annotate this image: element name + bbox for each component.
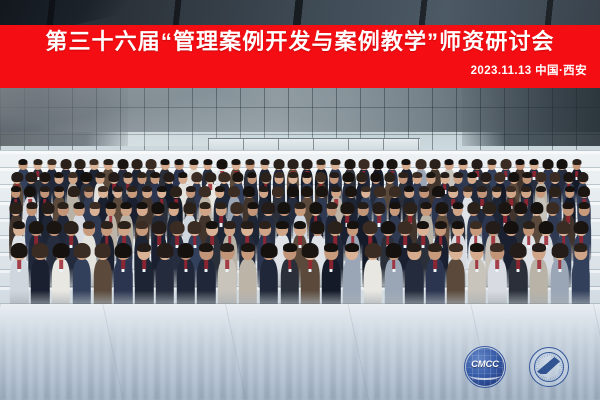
attendee-figure (488, 244, 508, 310)
attendee-lanyard (288, 260, 292, 269)
attendee-hair (341, 202, 354, 214)
attendee-hair (60, 159, 71, 169)
attendee-hair (205, 172, 216, 182)
attendee-figure (155, 244, 175, 310)
attendee-hair (230, 202, 243, 214)
attendee-hair (426, 172, 435, 178)
attendee-lanyard (184, 260, 188, 269)
attendee-hair (272, 186, 284, 197)
attendee-torso (73, 259, 91, 310)
attendee-hair (121, 202, 132, 209)
attendee-hair (417, 221, 429, 229)
attendee-hair (95, 172, 104, 178)
attendee-figure (446, 244, 466, 310)
attendee-hair (330, 172, 339, 178)
attendee-hair (486, 221, 501, 234)
attendee-hair (316, 186, 328, 197)
attendee-figure (508, 244, 528, 310)
attendee-hair (361, 186, 371, 192)
attendee-hair (363, 221, 378, 234)
attendee-hair (532, 243, 546, 252)
attendee-hair (429, 159, 440, 169)
attendee-lanyard (142, 260, 146, 269)
attendee-hair (356, 172, 367, 182)
attendee-hair (358, 159, 369, 169)
attendee-hair (273, 159, 284, 169)
crowd-row (0, 244, 600, 310)
attendee-hair (578, 186, 590, 197)
attendee-badge (517, 269, 520, 272)
attendee-hair (200, 243, 214, 252)
attendee-hair (146, 159, 157, 169)
attendee-hair (283, 243, 297, 252)
cmcc-logo: CMCC (464, 346, 506, 388)
attendee-lanyard (558, 260, 562, 269)
attendee-hair (89, 202, 100, 209)
attendee-hair (54, 172, 63, 178)
attendee-hair (232, 172, 243, 182)
attendee-hair (24, 186, 36, 197)
attendee-torso (343, 259, 361, 310)
attendee-hair (64, 221, 79, 234)
attendee-hair (364, 243, 381, 258)
attendee-hair (302, 172, 311, 178)
attendee-hair (151, 202, 164, 214)
attendee-hair (412, 172, 421, 178)
attendee-hair (380, 221, 395, 234)
attendee-lanyard (329, 260, 333, 269)
attendee-hair (434, 221, 446, 229)
attendee-hair (115, 243, 132, 258)
attendee-hair (454, 172, 463, 178)
attendee-badge (205, 269, 208, 272)
attendee-hair (452, 202, 463, 209)
attendee-hair (510, 243, 527, 258)
ceiling-canopy (0, 0, 600, 27)
attendee-hair (228, 186, 240, 197)
attendee-hair (11, 243, 28, 258)
attendee-figure (72, 244, 92, 310)
attendee-hair (163, 172, 174, 182)
attendee-figure (238, 244, 258, 310)
attendee-hair (191, 172, 202, 182)
attendee-hair (156, 186, 166, 192)
attendee-hair (262, 202, 275, 214)
attendee-hair (108, 172, 119, 182)
attendee-hair (178, 172, 187, 178)
attendee-hair (152, 221, 167, 234)
attendee-hair (515, 159, 524, 165)
attendee-hair (328, 221, 343, 234)
attendee-hair (530, 159, 539, 165)
attendee-hair (33, 159, 42, 165)
attendee-hair (347, 221, 359, 229)
attendee-hair (530, 202, 543, 214)
attendee-hair (39, 172, 50, 182)
attendee-hair (75, 159, 86, 169)
attendee-lanyard (59, 260, 63, 269)
attendee-hair (345, 186, 357, 197)
attendee-hair (137, 202, 148, 209)
attendee-hair (514, 202, 527, 214)
attendee-hair (12, 172, 23, 182)
attendee-hair (399, 172, 408, 178)
attendee-hair (19, 159, 28, 165)
attendee-hair (331, 159, 340, 165)
attendee-hair (105, 202, 116, 209)
attendee-lanyard (516, 260, 520, 269)
attendee-hair (200, 202, 211, 209)
attendee-hair (435, 202, 448, 214)
attendee-lanyard (18, 260, 22, 269)
attendee-hair (243, 186, 255, 197)
attendee-hair (113, 186, 123, 192)
attendee-torso (447, 259, 465, 310)
attendee-lanyard (392, 260, 396, 269)
attendee-lanyard (496, 260, 500, 269)
attendee-hair (459, 159, 468, 165)
attendee-hair (260, 159, 269, 165)
attendee-hair (543, 159, 554, 169)
attendee-hair (463, 186, 473, 192)
attendee-badge (18, 269, 21, 272)
attendee-hair (563, 172, 574, 182)
attendee-hair (500, 159, 511, 169)
attendee-hair (398, 221, 413, 234)
attendee-hair (215, 186, 225, 192)
attendee-hair (345, 243, 359, 252)
attendee-figure (405, 244, 425, 310)
attendee-torso (260, 259, 278, 310)
attendee-hair (260, 243, 277, 258)
attendee-hair (13, 221, 25, 229)
attendee-hair (407, 243, 421, 252)
attendee-hair (301, 186, 313, 197)
attendee-hair (117, 159, 128, 169)
attendee-hair (241, 243, 255, 252)
attendee-hair (563, 202, 574, 209)
attendee-figure (363, 244, 383, 310)
attendee-hair (536, 172, 547, 182)
attendee-torso (93, 259, 111, 310)
attendee-hair (539, 221, 554, 234)
attendee-hair (494, 172, 505, 182)
attendee-hair (556, 221, 571, 234)
attendee-hair (343, 172, 354, 182)
attendee-hair (247, 202, 258, 209)
attendee-hair (536, 186, 546, 192)
attendee-hair (565, 186, 575, 192)
attendee-hair (170, 186, 182, 197)
attendee-hair (572, 159, 581, 165)
attendee-hair (470, 221, 482, 229)
attendee-hair (131, 159, 142, 169)
crowd-of-attendees (0, 160, 600, 310)
attendee-hair (577, 172, 588, 182)
attendee-hair (259, 186, 269, 192)
attendee-hair (137, 243, 151, 252)
attendee-badge (288, 269, 291, 272)
attendee-hair (224, 221, 236, 229)
attendee-torso (571, 259, 589, 310)
attendee-hair (53, 243, 70, 258)
attendee-hair (477, 186, 487, 192)
attendee-hair (315, 172, 326, 182)
attendee-hair (74, 202, 85, 209)
red-title-banner: 第三十六届“管理案例开发与案例教学”师资研讨会 2023.11.13 中国·西安 (0, 25, 600, 88)
attendee-hair (98, 186, 108, 192)
attendee-hair (373, 159, 384, 169)
attendee-hair (220, 243, 234, 252)
attendee-hair (11, 186, 21, 192)
attendee-hair (467, 202, 480, 214)
attendee-hair (187, 221, 202, 234)
attendee-hair (492, 186, 502, 192)
attendee-figure (384, 244, 404, 310)
attendee-hair (521, 186, 531, 192)
attendee-hair (127, 186, 137, 192)
attendee-badge (60, 269, 63, 272)
attendee-lanyard (309, 260, 313, 269)
attendee-hair (32, 243, 49, 258)
attendee-hair (415, 159, 426, 169)
attendee-hair (81, 172, 92, 182)
attendee-hair (317, 159, 326, 165)
attendee-hair (9, 202, 22, 214)
attendee-badge (184, 269, 187, 272)
attendee-figure (342, 244, 362, 310)
attendee-hair (40, 186, 50, 192)
attendee-badge (122, 269, 125, 272)
attendee-lanyard (433, 260, 437, 269)
attendee-hair (199, 186, 211, 197)
attendee-torso (156, 259, 174, 310)
attendee-hair (470, 243, 484, 252)
conference-title: 第三十六届“管理案例开发与案例教学”师资研讨会 (0, 29, 600, 55)
attendee-figure (10, 244, 30, 310)
attendee-hair (142, 186, 152, 192)
attendee-hair (432, 186, 444, 197)
attendee-badge (434, 269, 437, 272)
attendee-hair (574, 221, 589, 234)
university-seal-logo (528, 346, 570, 388)
attendee-hair (508, 172, 519, 182)
attendee-hair (232, 159, 241, 165)
attendee-hair (302, 243, 319, 258)
attendee-hair (370, 172, 381, 182)
attendee-hair (444, 159, 453, 165)
attendee-figure (321, 244, 341, 310)
attendee-figure (571, 244, 591, 310)
attendee-hair (83, 221, 95, 229)
attendee-hair (549, 186, 561, 197)
attendee-hair (136, 221, 148, 229)
attendee-hair (302, 159, 313, 169)
attendee-hair (168, 202, 179, 209)
attendee-lanyard (122, 260, 126, 269)
attendee-hair (372, 202, 385, 214)
attendee-hair (157, 243, 174, 258)
attendee-lanyard (205, 260, 209, 269)
attendee-hair (26, 172, 37, 182)
attendee-hair (46, 221, 61, 234)
attendee-hair (579, 202, 590, 209)
attendee-hair (241, 221, 253, 229)
attendee-hair (189, 159, 198, 165)
attendee-badge (392, 269, 395, 272)
attendee-hair (440, 172, 449, 178)
attendee-hair (203, 159, 212, 165)
attendee-figure (176, 244, 196, 310)
attendee-hair (161, 159, 170, 165)
attendee-hair (68, 186, 80, 197)
attendee-badge (143, 269, 146, 272)
attendee-hair (41, 202, 54, 214)
cmcc-wordmark: CMCC (464, 359, 506, 370)
attendee-hair (247, 172, 256, 178)
attendee-torso (31, 259, 49, 310)
attendee-figure (51, 244, 71, 310)
attendee-hair (170, 221, 185, 234)
attendee-hair (374, 186, 386, 197)
attendee-hair (551, 243, 568, 258)
attendee-hair (546, 202, 559, 214)
attendee-hair (206, 221, 218, 229)
attendee-hair (472, 159, 483, 169)
attendee-figure (550, 244, 570, 310)
attendee-hair (344, 159, 355, 169)
attendee-hair (487, 159, 496, 165)
attendee-hair (419, 186, 429, 192)
attendee-hair (54, 186, 64, 192)
attendee-hair (387, 159, 398, 169)
attendee-hair (216, 202, 227, 209)
attendee-hair (260, 172, 271, 182)
attendee-hair (278, 202, 291, 214)
attendee-figure (467, 244, 487, 310)
attendee-torso (405, 259, 423, 310)
attendee-hair (288, 172, 297, 178)
attendee-hair (84, 186, 94, 192)
attendee-figure (301, 244, 321, 310)
attendee-hair (217, 159, 228, 169)
attendee-figure (529, 244, 549, 310)
attendee-badge (226, 269, 229, 272)
attendee-hair (389, 202, 400, 209)
attendee-hair (523, 172, 532, 178)
attendee-hair (68, 172, 77, 178)
attendee-hair (310, 221, 325, 234)
attendee-hair (276, 221, 288, 229)
attendee-badge (558, 269, 561, 272)
attendee-hair (287, 159, 298, 169)
attendee-hair (506, 186, 516, 192)
attendee-figure (217, 244, 237, 310)
attendee-hair (294, 202, 305, 209)
attendee-badge (309, 269, 312, 272)
attendee-hair (468, 172, 477, 178)
conference-date-location: 2023.11.13 中国·西安 (471, 64, 587, 78)
attendee-torso (364, 259, 382, 310)
attendee-badge (330, 269, 333, 272)
attendee-lanyard (475, 260, 479, 269)
attendee-hair (73, 243, 90, 258)
attendee-hair (58, 202, 69, 209)
attendee-hair (275, 172, 284, 178)
attendee-hair (326, 202, 337, 209)
attendee-figure (425, 244, 445, 310)
attendee-hair (557, 159, 568, 169)
attendee-hair (404, 186, 414, 192)
attendee-hair (490, 243, 504, 252)
attendee-hair (404, 202, 417, 214)
attendee-hair (499, 202, 512, 214)
attendee-badge (475, 269, 478, 272)
attendee-hair (137, 172, 146, 178)
attendee-hair (574, 243, 588, 252)
attendee-hair (123, 172, 132, 178)
attendee-hair (94, 243, 111, 258)
attendee-hair (448, 186, 458, 192)
attendee-hair (428, 243, 442, 252)
attendee-hair (309, 202, 322, 214)
attendee-hair (287, 186, 299, 197)
attendee-hair (504, 221, 519, 234)
attendee-hair (47, 159, 56, 165)
attendee-hair (294, 221, 306, 229)
attendee-hair (480, 172, 491, 182)
attendee-hair (246, 159, 255, 165)
attendee-hair (26, 202, 37, 209)
attendee-hair (389, 186, 401, 197)
attendee-hair (549, 172, 560, 182)
attendee-figure (134, 244, 154, 310)
attendee-torso (239, 259, 257, 310)
attendee-badge (496, 269, 499, 272)
attendee-hair (449, 243, 463, 252)
organizer-logos: CMCC (464, 346, 570, 388)
attendee-hair (219, 172, 230, 182)
attendee-badge (537, 269, 540, 272)
attendee-figure (30, 244, 50, 310)
attendee-hair (358, 202, 369, 209)
attendee-hair (100, 221, 112, 229)
attendee-hair (324, 243, 338, 252)
attendee-hair (90, 159, 99, 165)
attendee-figure (114, 244, 134, 310)
attendee-hair (421, 202, 432, 209)
attendee-hair (402, 159, 411, 165)
attendee-hair (186, 186, 196, 192)
attendee-hair (177, 243, 194, 258)
attendee-hair (259, 221, 271, 229)
attendee-lanyard (537, 260, 541, 269)
cmcc-underline-arc-icon (469, 371, 501, 380)
attendee-hair (483, 202, 496, 214)
attendee-lanyard (225, 260, 229, 269)
attendee-hair (385, 243, 402, 258)
conference-group-photo-poster: 第三十六届“管理案例开发与案例教学”师资研讨会 2023.11.13 中国·西安… (0, 0, 600, 400)
attendee-figure (93, 244, 113, 310)
attendee-figure (259, 244, 279, 310)
attendee-hair (175, 159, 184, 165)
attendee-hair (452, 221, 464, 229)
attendee-hair (331, 186, 341, 192)
attendee-hair (522, 221, 534, 229)
attendee-hair (183, 202, 196, 214)
attendee-hair (118, 221, 130, 229)
attendee-hair (384, 172, 395, 182)
